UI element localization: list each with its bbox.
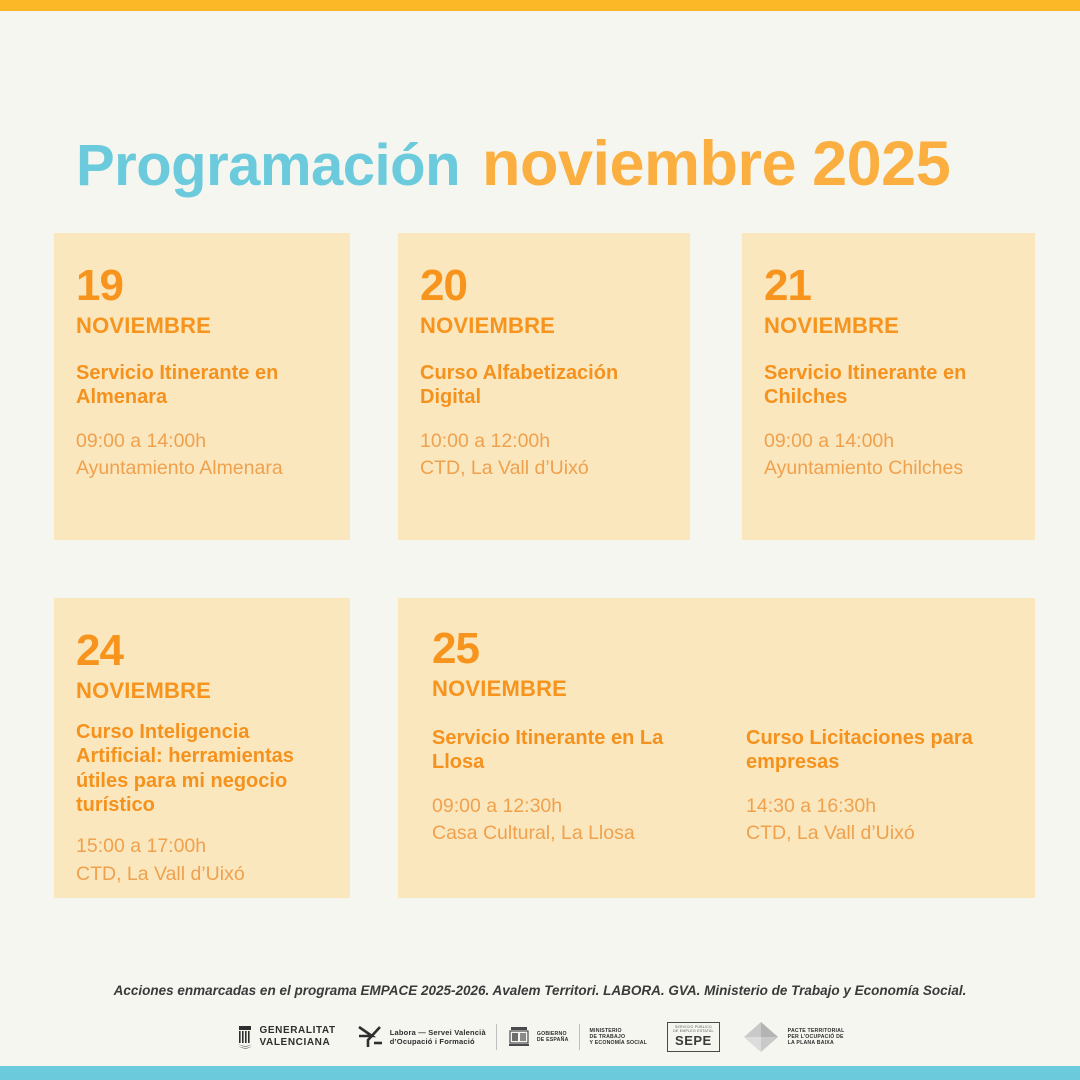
logo-gobierno-de-espana: GOBIERNO DE ESPAÑA	[497, 1025, 579, 1049]
logo-labora: Labora — Servei Valencià d’Ocupació i Fo…	[346, 1024, 496, 1050]
spain-coat-of-arms-icon	[507, 1025, 531, 1049]
logo-label: GENERALITAT VALENCIANA	[260, 1025, 336, 1050]
event-time: 09:00 a 14:00h	[76, 428, 328, 456]
event-time: 09:00 a 14:00h	[764, 428, 1013, 456]
card-month-label: NOVIEMBRE	[420, 313, 668, 339]
event-place: Casa Cultural, La Llosa	[432, 820, 702, 848]
event-meta: 09:00 a 14:00h Ayuntamiento Almenara	[76, 428, 328, 483]
card-day-number: 21	[764, 265, 1013, 307]
card-day-number: 20	[420, 265, 668, 307]
event-time: 15:00 a 17:00h	[76, 833, 328, 861]
event-card-19[interactable]: 19 NOVIEMBRE Servicio Itinerante en Alme…	[54, 233, 350, 540]
event-title: Servicio Itinerante en La Llosa	[432, 726, 702, 775]
labora-arrow-icon	[356, 1024, 384, 1050]
page-title: Programación noviembre 2025	[76, 128, 1016, 200]
event-time: 09:00 a 12:30h	[432, 793, 702, 821]
sepe-subtitle: SERVICIO PÚBLICO DE EMPLEO ESTATAL	[673, 1025, 714, 1034]
event-meta: 09:00 a 12:30h Casa Cultural, La Llosa	[432, 793, 702, 848]
card-day-number: 19	[76, 265, 328, 307]
top-accent-bar	[0, 0, 1080, 11]
title-month-word: noviembre	[482, 128, 796, 200]
event-card-24[interactable]: 24 NOVIEMBRE Curso Inteligencia Artifici…	[54, 598, 350, 898]
logo-label: MINISTERIO DE TRABAJO Y ECONOMÍA SOCIAL	[590, 1028, 648, 1047]
bottom-accent-bar	[0, 1066, 1080, 1080]
logo-label: Labora — Servei Valencià d’Ocupació i Fo…	[390, 1028, 486, 1047]
event-title: Servicio Itinerante en Chilches	[764, 361, 1013, 410]
event-title: Curso Inteligencia Artificial: herramien…	[76, 720, 328, 818]
event-meta: 09:00 a 14:00h Ayuntamiento Chilches	[764, 428, 1013, 483]
event-time: 14:30 a 16:30h	[746, 793, 1016, 821]
card-month-label: NOVIEMBRE	[76, 678, 328, 704]
card-date-header: 25 NOVIEMBRE	[398, 598, 1035, 702]
footer-disclaimer: Acciones enmarcadas en el programa EMPAC…	[0, 983, 1080, 998]
sepe-wordmark: SEPE	[673, 1033, 714, 1048]
title-program-word: Programación	[76, 132, 460, 199]
event-meta: 14:30 a 16:30h CTD, La Vall d’Uixó	[746, 793, 1016, 848]
pacte-territorial-diamond-icon	[740, 1020, 782, 1054]
event-place: CTD, La Vall d’Uixó	[420, 455, 668, 483]
generalitat-crest-icon	[236, 1024, 254, 1050]
card-day-number: 25	[432, 628, 1035, 670]
event-place: Ayuntamiento Almenara	[76, 455, 328, 483]
event-title: Curso Licitaciones para empresas	[746, 726, 1016, 775]
logo-label: GOBIERNO DE ESPAÑA	[537, 1031, 569, 1043]
event-place: CTD, La Vall d’Uixó	[746, 820, 1016, 848]
title-year: 2025	[812, 128, 950, 200]
event-title: Curso Alfabetización Digital	[420, 361, 668, 410]
event-title: Servicio Itinerante en Almenara	[76, 361, 328, 410]
event-column-2: Curso Licitaciones para empresas 14:30 a…	[746, 702, 1016, 848]
event-place: CTD, La Vall d’Uixó	[76, 861, 328, 889]
logo-ministerio-trabajo: MINISTERIO DE TRABAJO Y ECONOMÍA SOCIAL	[580, 1028, 658, 1047]
event-meta: 10:00 a 12:00h CTD, La Vall d’Uixó	[420, 428, 668, 483]
card-month-label: NOVIEMBRE	[764, 313, 1013, 339]
event-meta: 15:00 a 17:00h CTD, La Vall d’Uixó	[76, 833, 328, 888]
sepe-box: SERVICIO PÚBLICO DE EMPLEO ESTATAL SEPE	[667, 1022, 720, 1053]
logo-label: PACTE TERRITORIAL PER L’OCUPACIÓ DE LA P…	[788, 1028, 845, 1047]
event-card-21[interactable]: 21 NOVIEMBRE Servicio Itinerante en Chil…	[742, 233, 1035, 540]
logo-sepe: SERVICIO PÚBLICO DE EMPLEO ESTATAL SEPE	[657, 1022, 730, 1053]
card-month-label: NOVIEMBRE	[432, 676, 1035, 702]
event-card-25[interactable]: 25 NOVIEMBRE Servicio Itinerante en La L…	[398, 598, 1035, 898]
event-place: Ayuntamiento Chilches	[764, 455, 1013, 483]
card-day-number: 24	[76, 630, 328, 672]
event-column-1: Servicio Itinerante en La Llosa 09:00 a …	[432, 702, 702, 848]
event-card-20[interactable]: 20 NOVIEMBRE Curso Alfabetización Digita…	[398, 233, 690, 540]
footer-logo-row: GENERALITAT VALENCIANA Labora — Servei V…	[0, 1020, 1080, 1054]
card-month-label: NOVIEMBRE	[76, 313, 328, 339]
logo-pacte-territorial: PACTE TERRITORIAL PER L’OCUPACIÓ DE LA P…	[730, 1020, 855, 1054]
logo-generalitat-valenciana: GENERALITAT VALENCIANA	[226, 1024, 346, 1050]
event-time: 10:00 a 12:00h	[420, 428, 668, 456]
